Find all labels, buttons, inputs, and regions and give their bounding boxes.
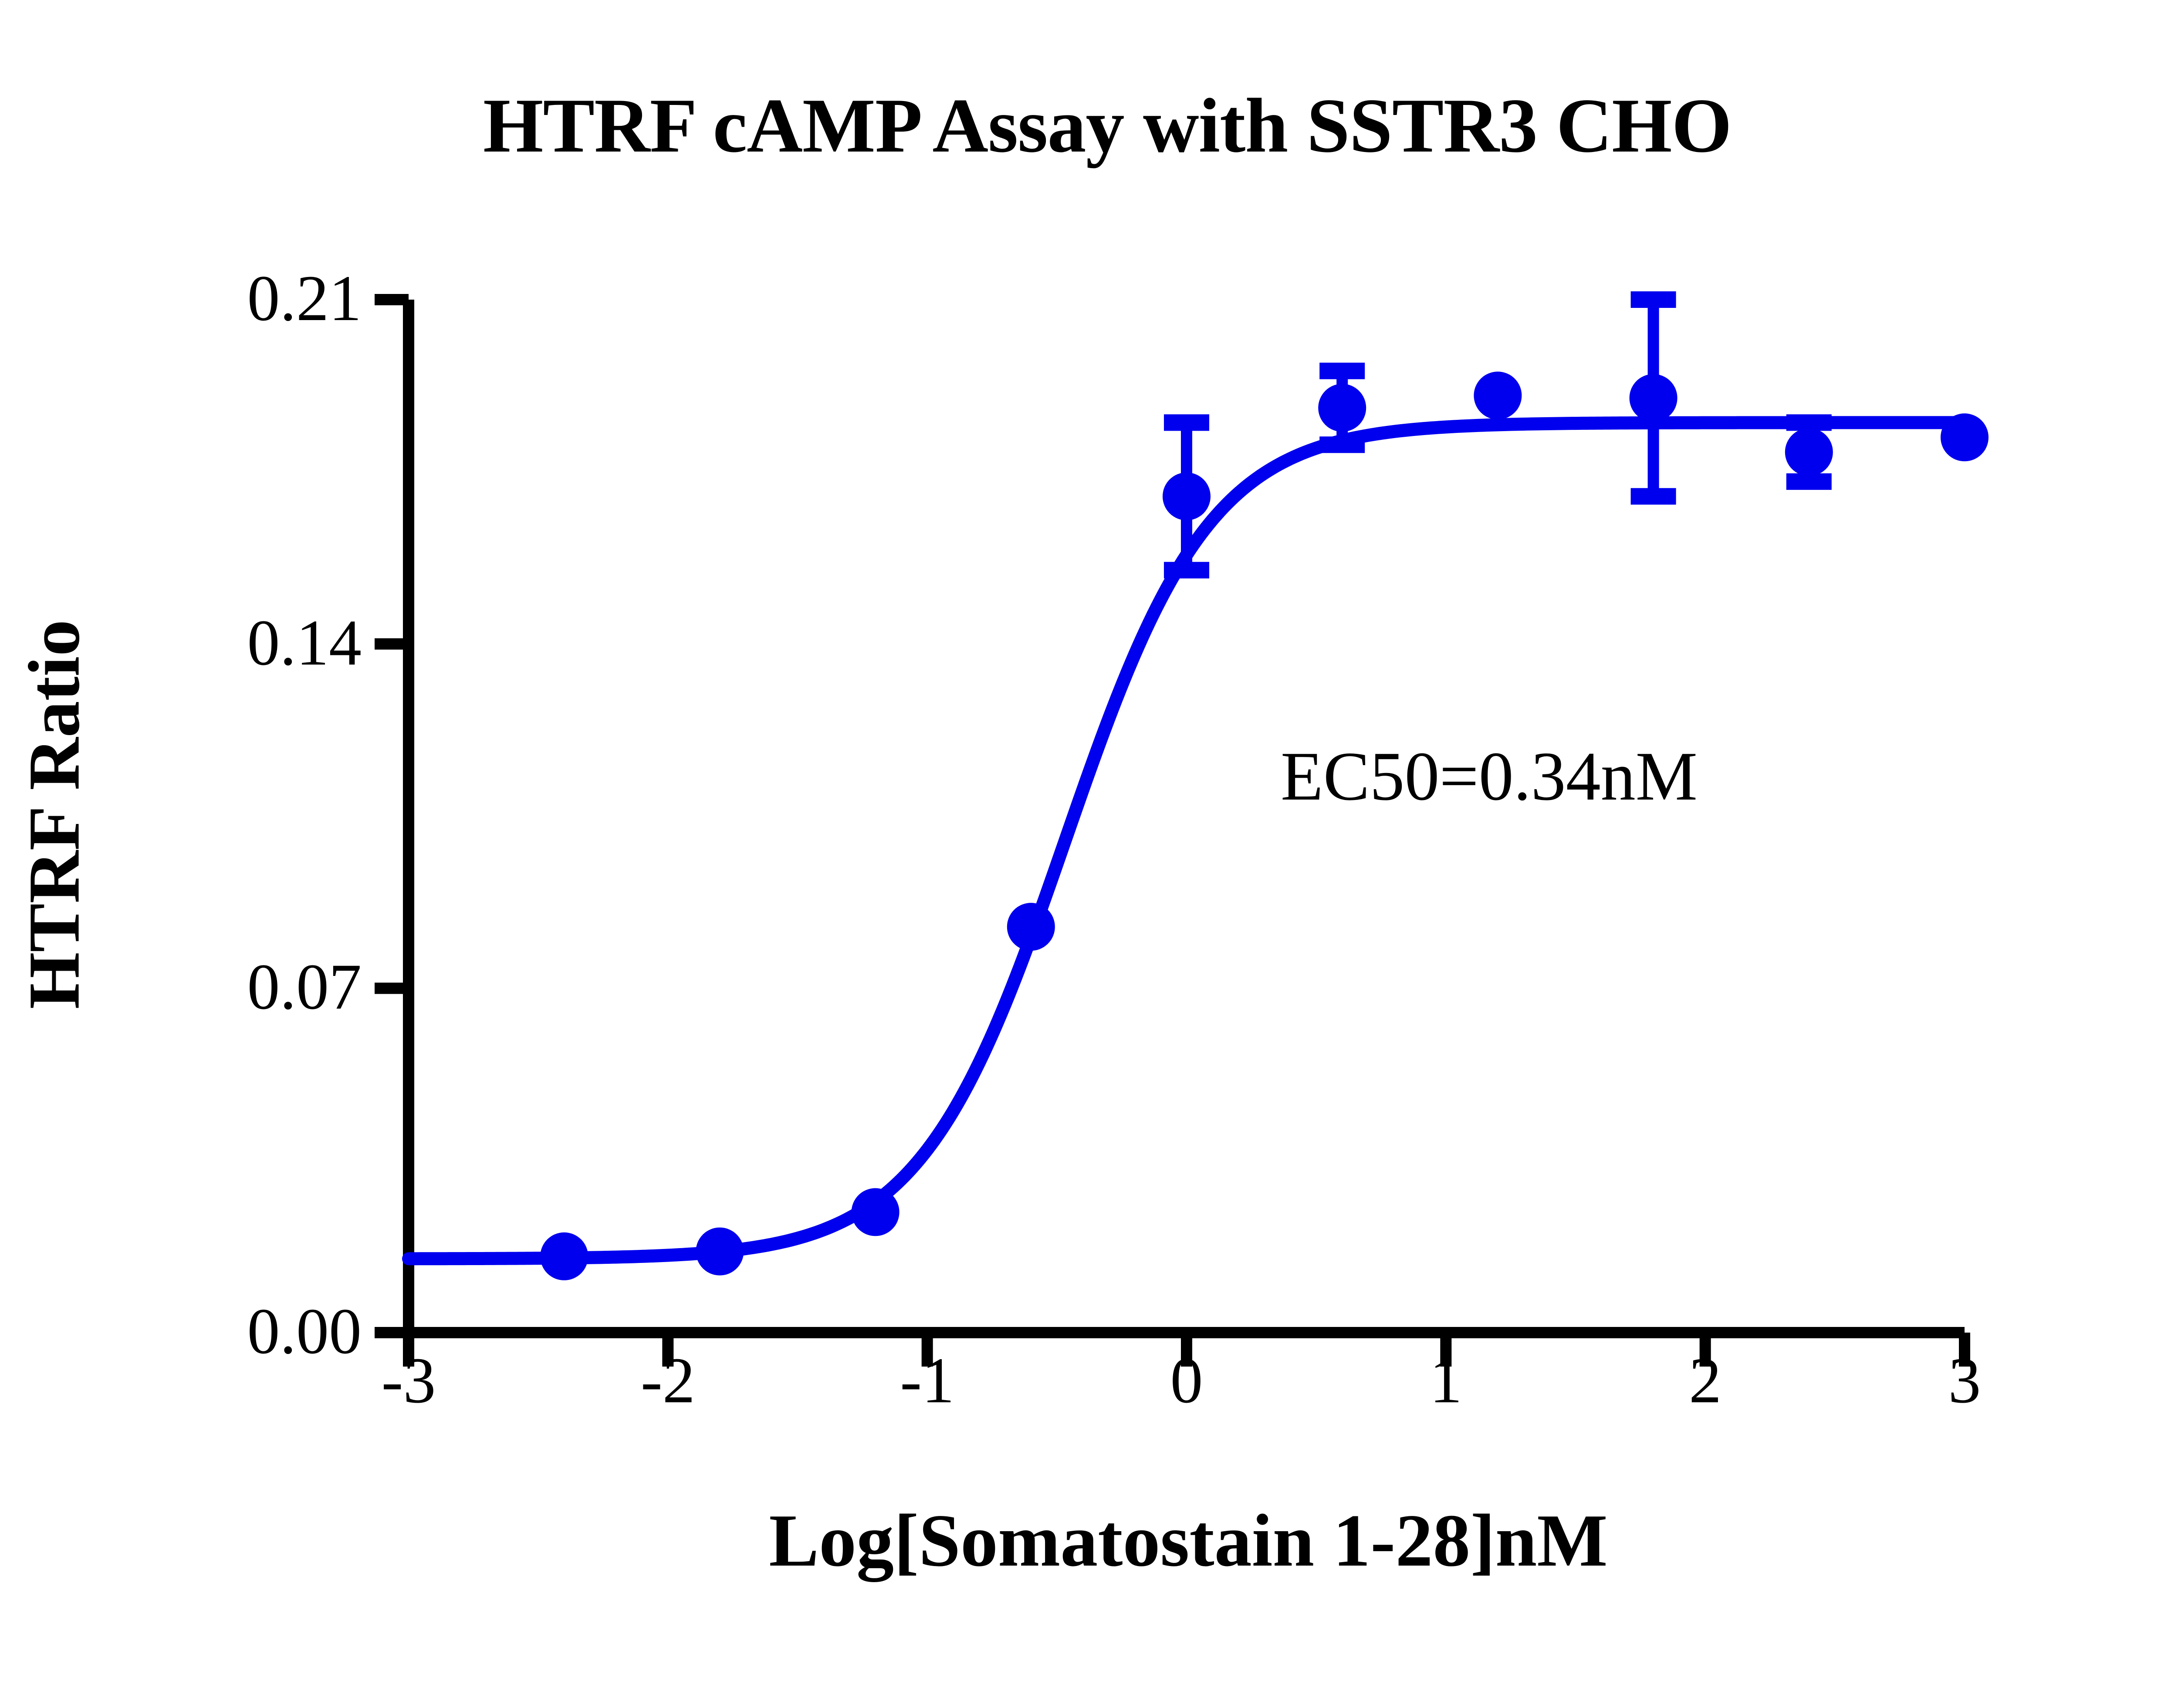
chart-figure: HTRF cAMP Assay with SSTR3 CHO HTRF Rati… [0,0,2178,1708]
error-bar-layer [1164,300,1832,570]
data-marker-layer [540,371,1989,1280]
data-point-1 [696,1228,744,1276]
data-point-4 [1163,473,1211,520]
data-point-8 [1785,428,1833,476]
data-point-2 [852,1188,900,1236]
data-point-7 [1630,374,1677,422]
data-point-3 [1007,903,1055,951]
data-point-9 [1941,413,1989,461]
data-point-5 [1318,384,1366,432]
data-point-6 [1474,371,1522,419]
axis-layer [375,300,1965,1367]
data-point-0 [540,1232,588,1280]
plot-area [0,0,2178,1708]
